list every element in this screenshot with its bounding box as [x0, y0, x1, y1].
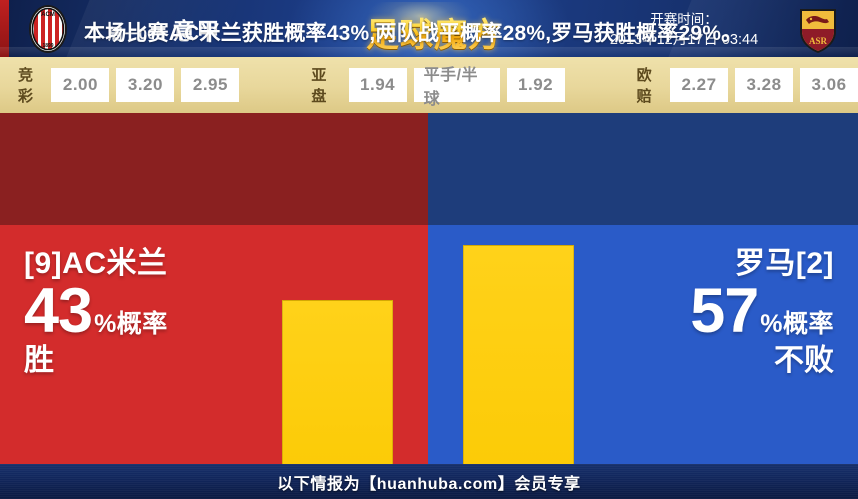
away-probability-row: 57 %概率 — [584, 279, 834, 343]
odds-cell-european-draw[interactable]: 3.28 — [735, 68, 793, 102]
odds-group-label-jingcai: 竞彩 — [18, 64, 41, 106]
away-outcome-label: 不败 — [584, 343, 834, 379]
summary-band-right-half — [428, 113, 858, 225]
away-probability-value: 57 — [690, 279, 758, 343]
footer-bar: 以下情报为【huanhuba.com】会员专享 — [0, 464, 858, 499]
home-probability-bar — [282, 300, 393, 464]
odds-cell-asian-away[interactable]: 1.92 — [507, 68, 565, 102]
home-outcome-label: 胜 — [24, 343, 274, 379]
home-probability-suffix: %概率 — [94, 304, 168, 340]
summary-description-text: 本场比赛AC米兰获胜概率43%,两队战平概率28%,罗马获胜概率29%。 — [84, 18, 784, 51]
footer-membership-notice: 以下情报为【huanhuba.com】会员专享 — [277, 470, 581, 494]
odds-group-asian-handicap: 亚盘 1.94 平手/半球 1.92 — [311, 64, 564, 106]
odds-group-label-european: 欧赔 — [637, 64, 660, 106]
away-probability-suffix: %概率 — [760, 304, 834, 340]
probability-panels: [9]AC米兰 43 %概率 胜 罗马[2] 57 %概率 不败 — [0, 225, 858, 464]
odds-bar: 竞彩 2.00 3.20 2.95 亚盘 1.94 平手/半球 1.92 欧赔 … — [0, 57, 858, 113]
match-probability-infographic: ACM 1899 ASR 周一006 意甲 足球魔方 开赛时间： 2013年12… — [0, 0, 858, 499]
away-probability-bar — [463, 245, 574, 464]
svg-text:1899: 1899 — [42, 43, 53, 49]
odds-cell-asian-handicap-line[interactable]: 平手/半球 — [414, 68, 500, 102]
svg-text:ACM: ACM — [41, 12, 55, 18]
home-probability-value: 43 — [24, 279, 92, 343]
home-team-panel: [9]AC米兰 43 %概率 胜 — [0, 225, 428, 464]
odds-group-european: 欧赔 2.27 3.28 3.06 — [637, 64, 858, 106]
summary-band — [0, 113, 858, 225]
odds-cell-jingcai-draw[interactable]: 3.20 — [116, 68, 174, 102]
odds-group-label-asian-handicap: 亚盘 — [311, 64, 338, 106]
svg-text:ASR: ASR — [809, 36, 828, 46]
odds-cell-european-home[interactable]: 2.27 — [670, 68, 728, 102]
home-team-stats: [9]AC米兰 43 %概率 胜 — [24, 247, 274, 379]
odds-cell-jingcai-home[interactable]: 2.00 — [51, 68, 109, 102]
odds-cell-asian-home[interactable]: 1.94 — [349, 68, 407, 102]
odds-group-jingcai: 竞彩 2.00 3.20 2.95 — [18, 64, 239, 106]
away-team-stats: 罗马[2] 57 %概率 不败 — [584, 247, 834, 379]
odds-cell-jingcai-away[interactable]: 2.95 — [181, 68, 239, 102]
ac-milan-crest-icon: ACM 1899 — [22, 3, 74, 55]
summary-band-left-half — [0, 113, 428, 225]
away-team-panel: 罗马[2] 57 %概率 不败 — [428, 225, 858, 464]
as-roma-crest-icon: ASR — [792, 3, 844, 55]
home-probability-row: 43 %概率 — [24, 279, 274, 343]
odds-cell-european-away[interactable]: 3.06 — [800, 68, 858, 102]
